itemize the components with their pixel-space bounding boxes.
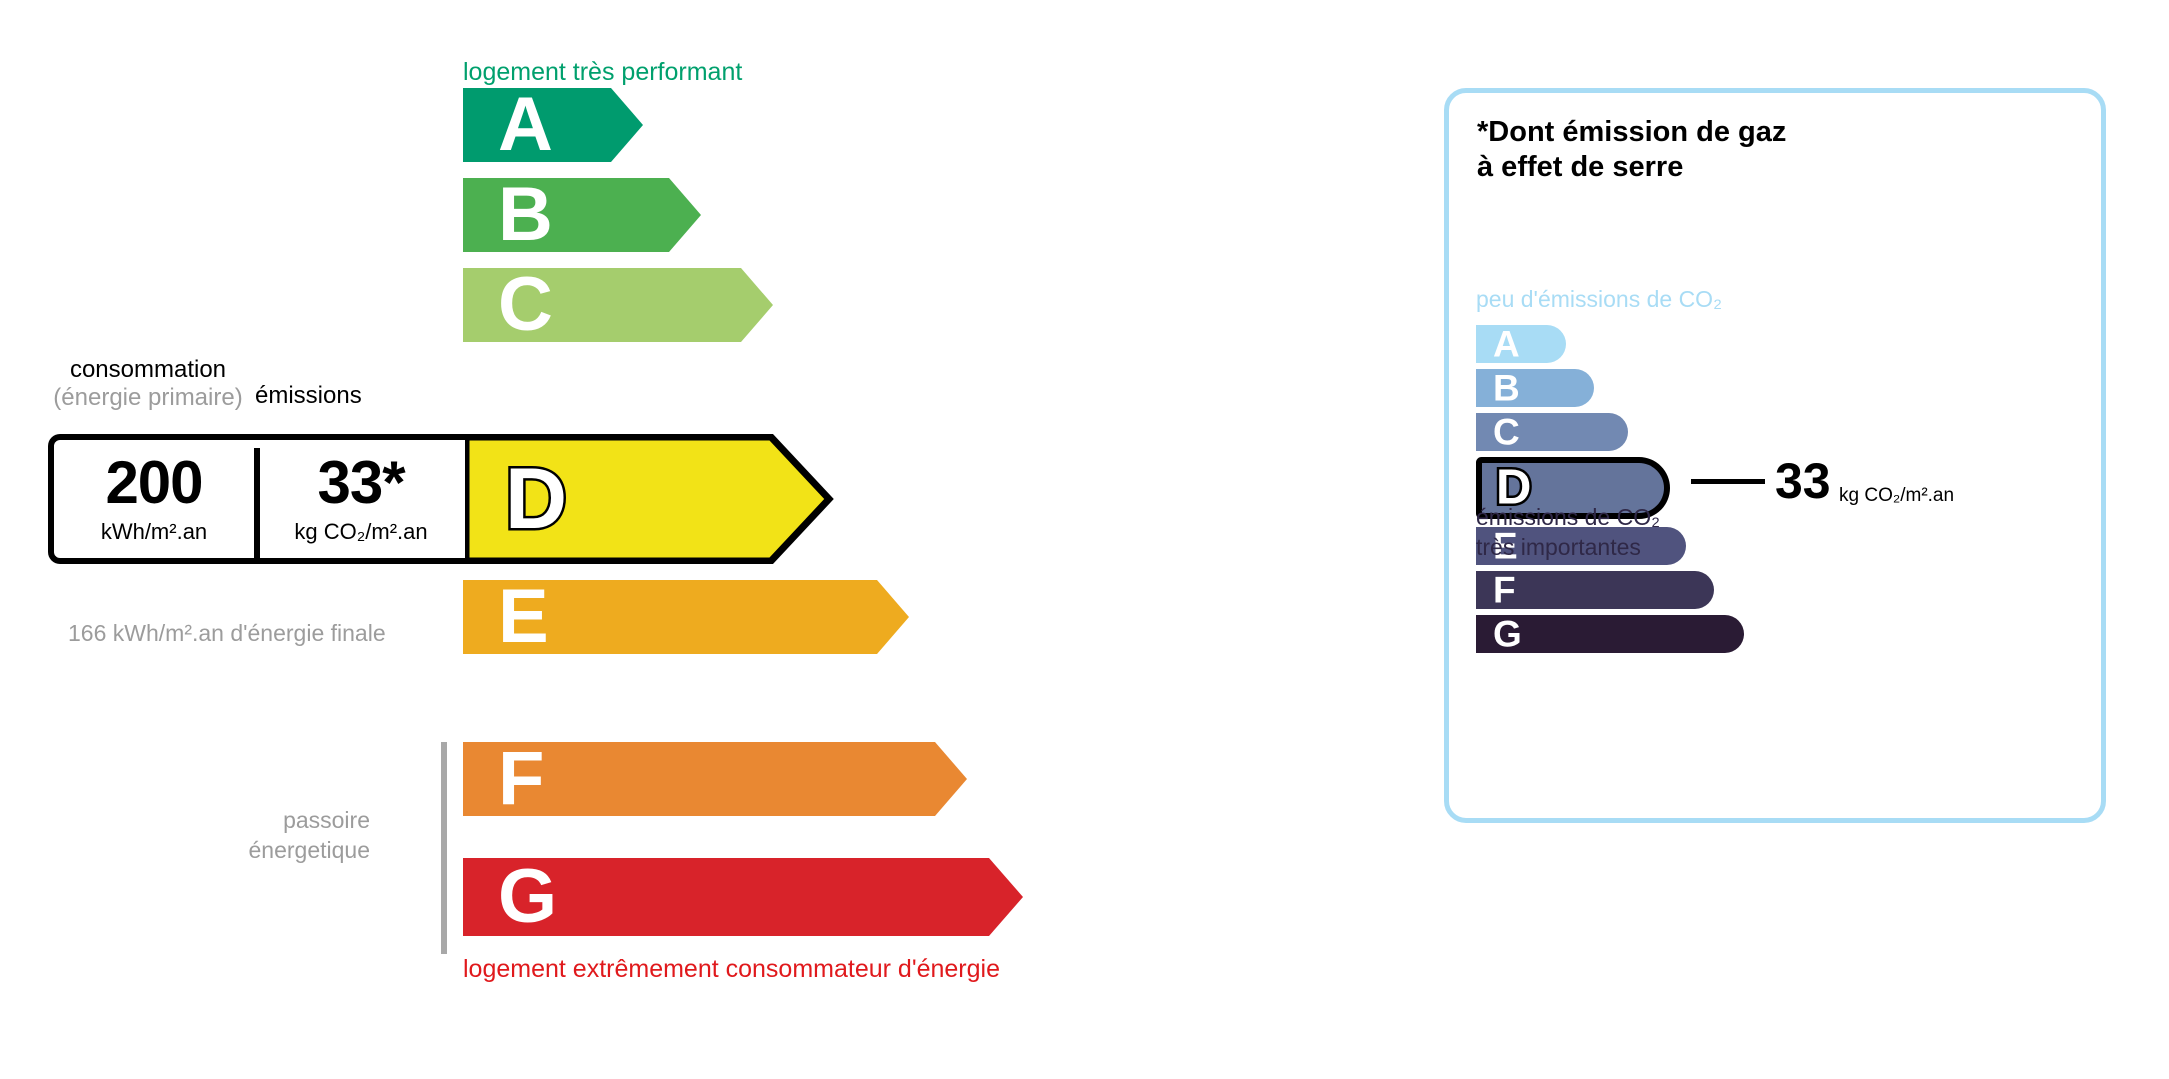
energy-band-b-letter: B (498, 177, 553, 253)
co2-panel-title: *Dont émission de gaz à effet de serre (1477, 115, 1786, 185)
emission-unit: kg CO₂/m².an (294, 519, 427, 545)
consumption-unit: kWh/m².an (101, 519, 207, 545)
passoire-label: passoire énergetique (190, 805, 370, 866)
co2-caption-bottom: émissions de CO₂ très importantes (1476, 503, 1660, 563)
energy-band-b[interactable]: B (463, 178, 701, 252)
final-energy-label: 166 kWh/m².an d'énergie finale (68, 618, 386, 648)
consumption-header: consommation (énergie primaire) (48, 356, 248, 413)
co2-value: 33 (1775, 456, 1831, 506)
energy-rating-chart: logement très performant A B C D E (0, 0, 1400, 1079)
rating-value-box: 200 kWh/m².an 33* kg CO₂/m².an (48, 434, 465, 564)
energy-band-g[interactable]: G (463, 858, 1023, 936)
band-a-arrow-shape (463, 88, 643, 162)
consumption-header-sub: (énergie primaire) (48, 384, 248, 412)
co2-band-a[interactable]: A (1476, 325, 1566, 363)
energy-band-e[interactable]: E (463, 580, 909, 654)
emission-value: 33* (317, 453, 404, 513)
energy-band-g-letter: G (498, 859, 557, 935)
energy-band-d-selected[interactable]: D (463, 434, 834, 564)
co2-caption-top: peu d'émissions de CO₂ (1476, 286, 1722, 313)
energy-band-f-letter: F (498, 741, 544, 817)
energy-band-f[interactable]: F (463, 742, 967, 816)
co2-band-c-letter: C (1493, 414, 1520, 451)
co2-leader-line (1691, 479, 1765, 484)
energy-band-a[interactable]: A (463, 88, 643, 162)
energy-band-c[interactable]: C (463, 268, 773, 342)
co2-emissions-panel: *Dont émission de gaz à effet de serre p… (1444, 88, 2106, 823)
co2-band-f[interactable]: F (1476, 571, 1714, 609)
co2-band-b[interactable]: B (1476, 369, 1594, 407)
co2-band-a-letter: A (1493, 326, 1520, 363)
energy-band-e-letter: E (498, 579, 549, 655)
energy-band-d-letter: D (505, 456, 567, 542)
consumption-value-cell: 200 kWh/m².an (54, 440, 254, 558)
co2-band-c[interactable]: C (1476, 413, 1628, 451)
co2-value-unit: kg CO₂/m².an (1839, 485, 1954, 507)
value-box-divider (254, 448, 260, 562)
passoire-bracket (441, 742, 447, 954)
energy-band-a-letter: A (498, 87, 553, 163)
energy-band-c-letter: C (498, 267, 553, 343)
co2-band-b-letter: B (1493, 370, 1520, 407)
co2-band-g-letter: G (1493, 616, 1522, 653)
co2-band-g[interactable]: G (1476, 615, 1744, 653)
energy-caption-bottom: logement extrêmement consommateur d'éner… (463, 955, 1000, 984)
emission-value-cell: 33* kg CO₂/m².an (261, 440, 461, 558)
co2-band-f-letter: F (1493, 572, 1516, 609)
emissions-header: émissions (255, 382, 362, 410)
consumption-value: 200 (105, 453, 202, 513)
consumption-header-main: consommation (70, 356, 226, 383)
